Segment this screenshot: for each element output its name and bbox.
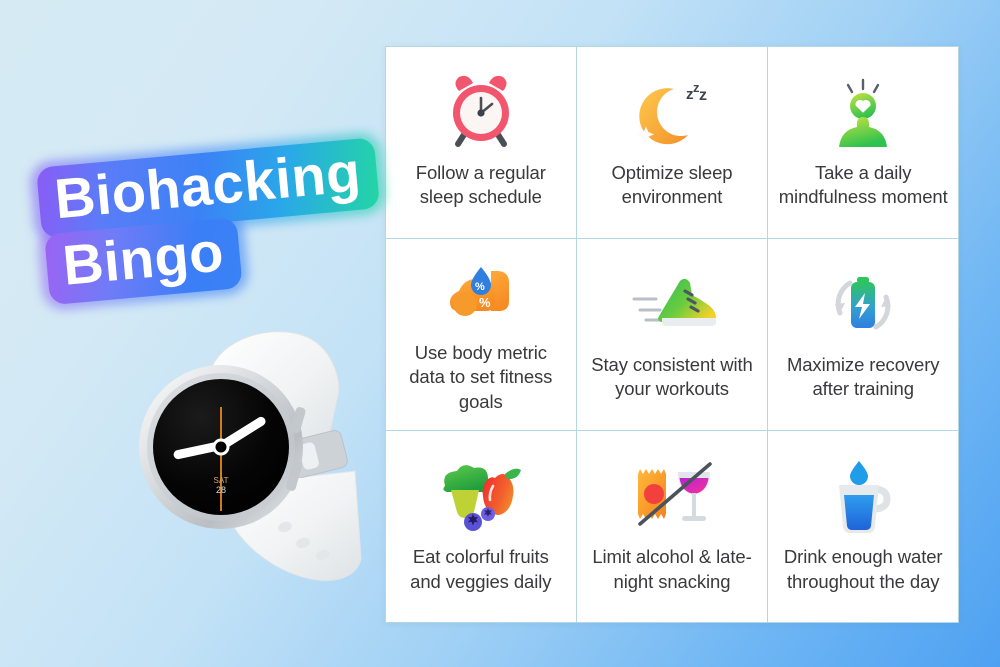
bingo-cell-2-label: Optimize sleep environment [587, 161, 757, 210]
smartwatch-image: SAT 28 [115, 295, 365, 585]
bingo-cell-8-label: Limit alcohol & late-night snacking [587, 545, 757, 594]
bingo-cell-9[interactable]: Drink enough water throughout the day [768, 431, 958, 622]
watch-hand-pivot [214, 440, 228, 454]
fruits-veggies-icon [396, 455, 566, 539]
svg-text:z: z [699, 87, 707, 104]
watch-face-day: SAT [214, 476, 229, 485]
bingo-cell-1-label: Follow a regular sleep schedule [396, 161, 566, 210]
poster-title: Biohacking Bingo [36, 137, 386, 305]
watch-face-date: 28 [216, 485, 226, 495]
bingo-cell-8[interactable]: Limit alcohol & late-night snacking [577, 431, 767, 622]
water-mug-icon [778, 455, 948, 539]
bingo-cell-4-label: Use body metric data to set fitness goal… [396, 341, 566, 414]
no-alcohol-snacks-icon [587, 455, 757, 539]
bingo-cell-2[interactable]: z z z Optimize sleep environment [577, 47, 767, 238]
flexed-bicep-icon: % % [396, 251, 566, 335]
svg-text:%: % [479, 295, 491, 310]
svg-text:%: % [475, 281, 485, 293]
bingo-cell-5-label: Stay consistent with your workouts [587, 353, 757, 402]
bingo-cell-9-label: Drink enough water throughout the day [778, 545, 948, 594]
bingo-cell-5[interactable]: Stay consistent with your workouts [577, 239, 767, 430]
bingo-cell-6[interactable]: Maximize recovery after training [768, 239, 958, 430]
alarm-clock-icon [396, 71, 566, 155]
bingo-cell-4[interactable]: % % Use body metric data to set fitness … [386, 239, 576, 430]
mindfulness-person-icon [778, 71, 948, 155]
bingo-cell-7[interactable]: Eat colorful fruits and veggies daily [386, 431, 576, 622]
bingo-cell-3[interactable]: Take a daily mindfulness moment [768, 47, 958, 238]
smartwatch-illustration: SAT 28 [115, 295, 365, 585]
bingo-cell-6-label: Maximize recovery after training [778, 353, 948, 402]
bingo-cell-3-label: Take a daily mindfulness moment [778, 161, 948, 210]
bingo-cell-1[interactable]: Follow a regular sleep schedule [386, 47, 576, 238]
running-shoe-icon [587, 263, 757, 347]
battery-recovery-icon [778, 263, 948, 347]
bingo-grid: Follow a regular sleep schedule z z z [385, 46, 959, 623]
sleeping-moon-icon: z z z [587, 71, 757, 155]
bingo-cell-7-label: Eat colorful fruits and veggies daily [396, 545, 566, 594]
